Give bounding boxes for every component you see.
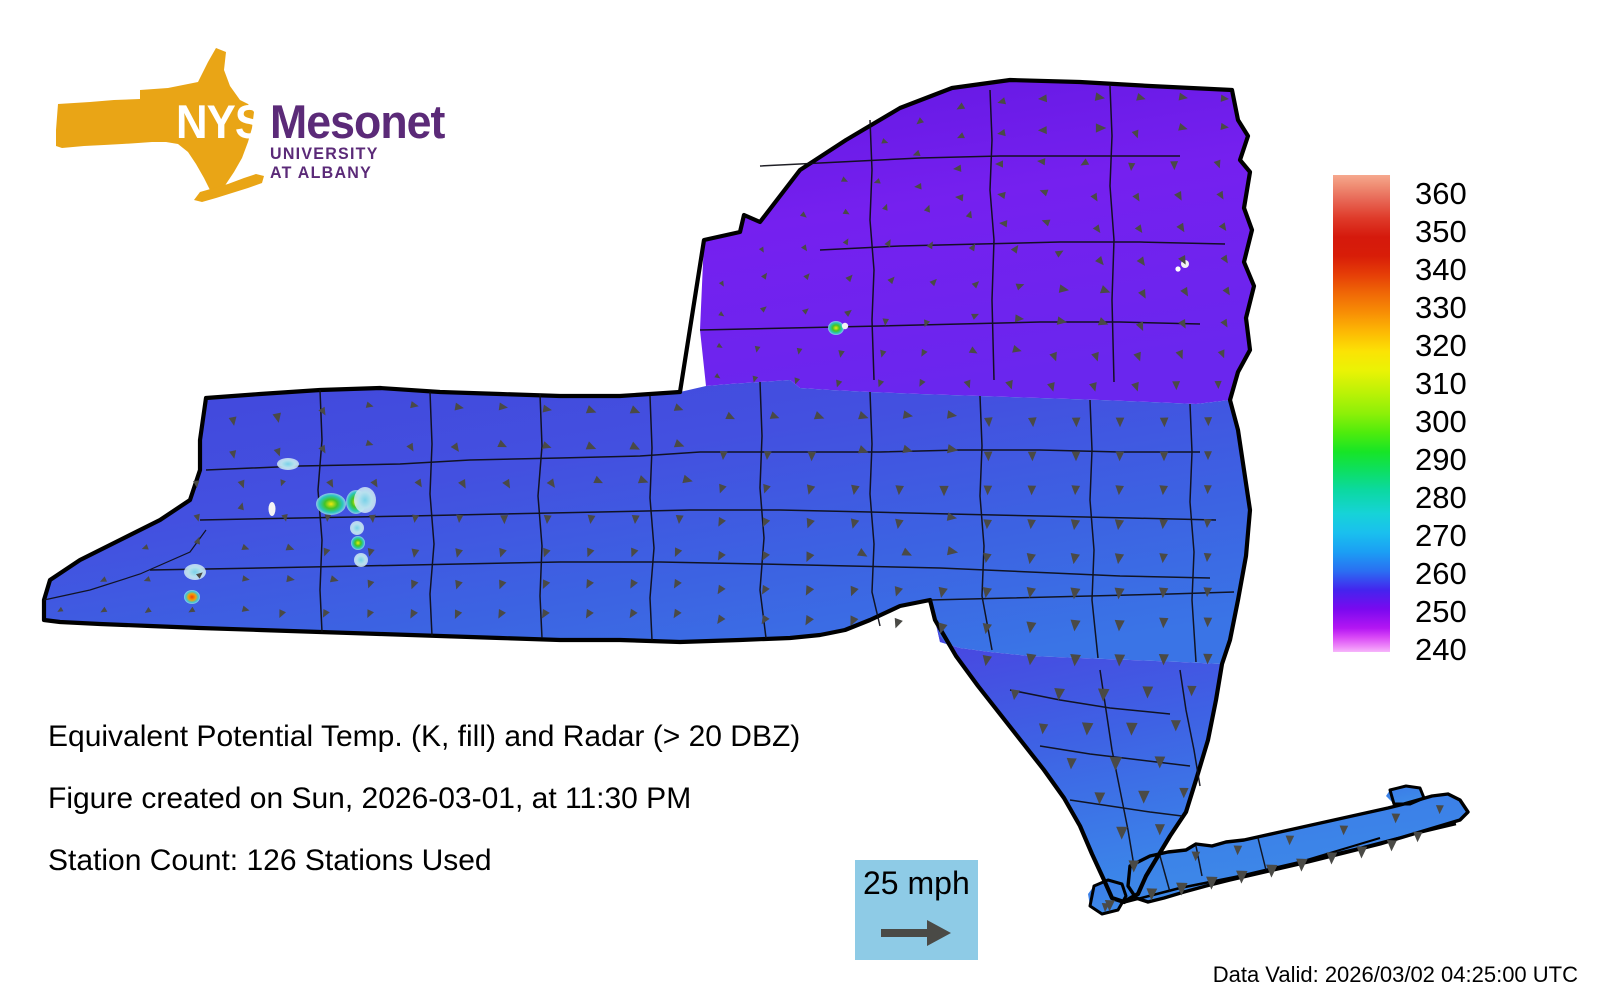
colorbar-tick-360: 360 — [1415, 178, 1467, 209]
colorbar-tick-330: 330 — [1415, 292, 1467, 323]
colorbar-tick-290: 290 — [1415, 444, 1467, 475]
colorbar-tick-240: 240 — [1415, 634, 1467, 665]
thetae-fill-main — [44, 380, 1250, 664]
colorbar-tick-270: 270 — [1415, 520, 1467, 551]
colorbar-tick-320: 320 — [1415, 330, 1467, 361]
wind-scale-label: 25 mph — [863, 865, 970, 902]
logo-subtitle-text: UNIVERSITY AT ALBANY — [270, 145, 404, 183]
colorbar: 360 350 340 330 320 310 300 290 280 270 … — [1333, 175, 1523, 655]
colorbar-tick-340: 340 — [1415, 254, 1467, 285]
figure-created-text: Figure created on Sun, 2026-03-01, at 11… — [48, 782, 691, 816]
colorbar-tick-300: 300 — [1415, 406, 1467, 437]
station-count-text: Station Count: 126 Stations Used — [48, 844, 492, 878]
logo-mesonet-text: Mesonet — [270, 94, 444, 149]
data-valid-text: Data Valid: 2026/03/02 04:25:00 UTC — [1213, 962, 1578, 988]
colorbar-tick-310: 310 — [1415, 368, 1467, 399]
colorbar-tick-280: 280 — [1415, 482, 1467, 513]
plot-title: Equivalent Potential Temp. (K, fill) and… — [48, 720, 800, 754]
colorbar-tick-250: 250 — [1415, 596, 1467, 627]
colorbar-tick-260: 260 — [1415, 558, 1467, 589]
logo-nys-text: NYS — [176, 94, 263, 149]
nys-mesonet-logo: NYS Mesonet UNIVERSITY AT ALBANY — [48, 42, 408, 212]
wind-arrow-icon — [881, 918, 953, 948]
colorbar-tick-350: 350 — [1415, 216, 1467, 247]
wind-scale-key: 25 mph — [855, 860, 978, 960]
colorbar-gradient — [1333, 175, 1390, 652]
